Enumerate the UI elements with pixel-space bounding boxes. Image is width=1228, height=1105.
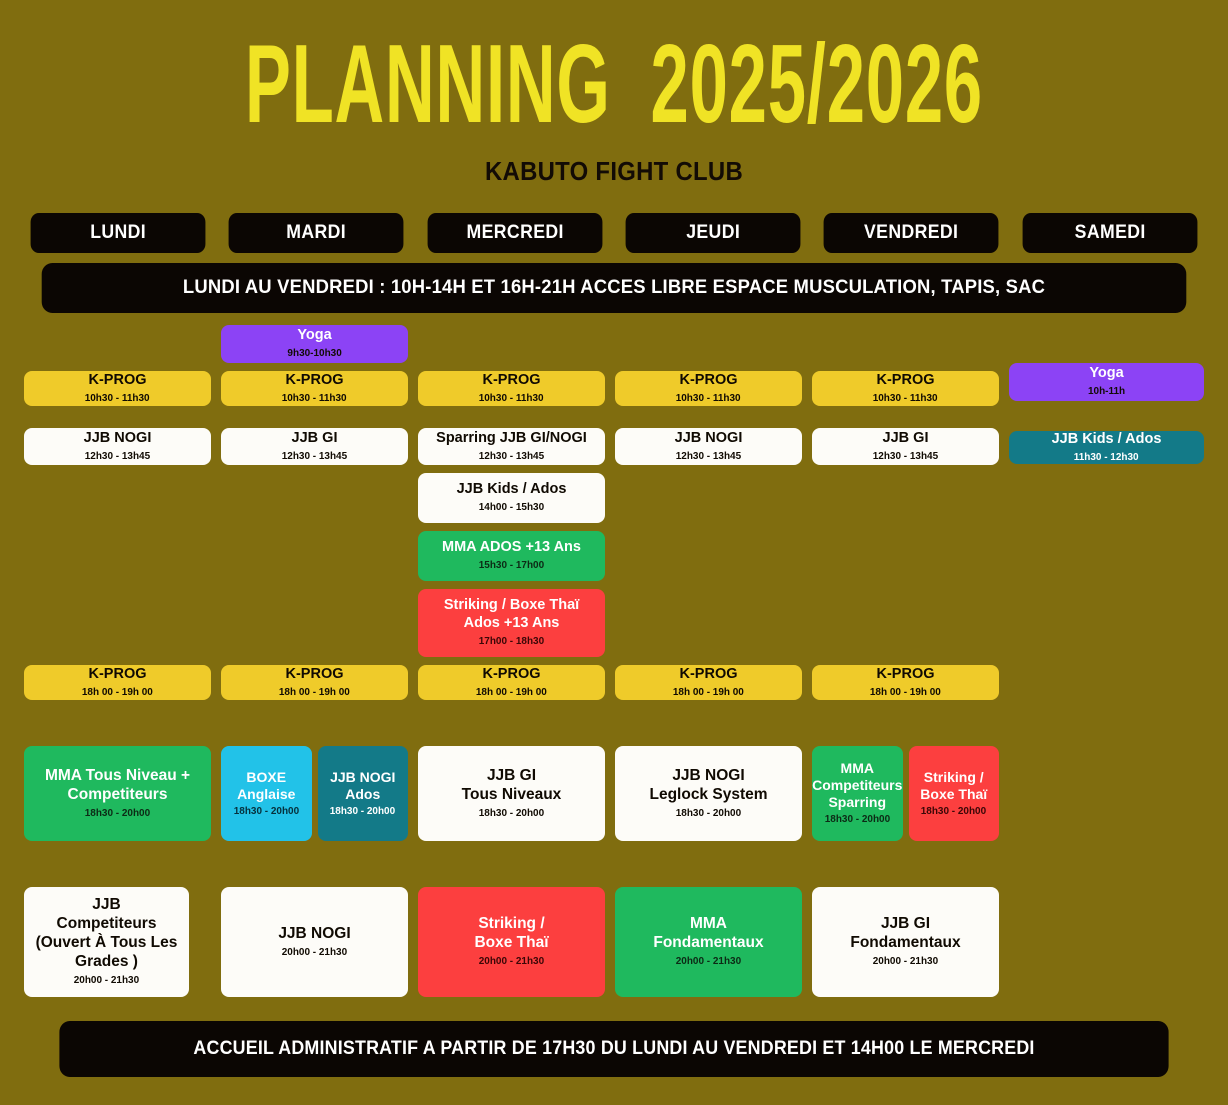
row-midday: JJB NOGI 12h30 - 13h45 JJB GI 12h30 - 13…	[24, 428, 999, 465]
class-time: 14h00 - 15h30	[479, 501, 544, 515]
admin-hours-banner: ACCUEIL ADMINISTRATIF A PARTIR DE 17H30 …	[59, 1021, 1168, 1077]
class-card-jjb-nogi-ados-mardi[interactable]: JJB NOGI Ados 18h30 - 20h00	[318, 746, 409, 841]
class-name: JJB NOGI	[278, 925, 350, 944]
class-name: K-PROG	[89, 372, 147, 390]
class-card-midday-vendredi[interactable]: JJB GI 12h30 - 13h45	[812, 428, 999, 465]
day-header-mardi[interactable]: MARDI	[229, 213, 404, 253]
class-time: 18h 00 - 19h 00	[673, 686, 744, 700]
samedi-column: Yoga 10h-11h JJB Kids / Ados 11h30 - 12h…	[1009, 313, 1204, 997]
class-card-jjb-nogi-leglock-jeudi[interactable]: JJB NOGI Leglock System 18h30 - 20h00	[615, 746, 802, 841]
class-card-kprog-evening-lundi[interactable]: K-PROG 18h 00 - 19h 00	[24, 665, 211, 700]
class-name: JJB NOGI Ados	[330, 769, 395, 803]
class-time: 12h30 - 13h45	[676, 450, 741, 464]
class-card-mma-fondamentaux-jeudi[interactable]: MMA Fondamentaux 20h00 - 21h30	[615, 887, 802, 997]
club-name: KABUTO FIGHT CLUB	[49, 156, 1179, 187]
class-time: 20h00 - 21h30	[282, 946, 347, 960]
class-name: K-PROG	[89, 666, 147, 684]
day-header-mercredi[interactable]: MERCREDI	[427, 213, 602, 253]
day-header-lundi[interactable]: LUNDI	[31, 213, 206, 253]
class-name: Striking / Boxe Thaï	[920, 769, 987, 803]
class-time: 20h00 - 21h30	[74, 974, 139, 988]
class-card-kprog-evening-mercredi[interactable]: K-PROG 18h 00 - 19h 00	[418, 665, 605, 700]
class-name: Striking / Boxe Thaï	[474, 915, 548, 953]
class-name: JJB NOGI	[675, 430, 743, 448]
class-name: K-PROG	[483, 372, 541, 390]
class-time: 9h30-10h30	[287, 347, 341, 361]
class-name: JJB GI	[883, 430, 929, 448]
class-name: Yoga	[297, 327, 331, 345]
class-time: 10h30 - 11h30	[873, 392, 938, 406]
class-time: 12h30 - 13h45	[873, 450, 938, 464]
class-time: 12h30 - 13h45	[85, 450, 150, 464]
class-card-kprog-evening-vendredi[interactable]: K-PROG 18h 00 - 19h 00	[812, 665, 999, 700]
class-card-midday-mardi[interactable]: JJB GI 12h30 - 13h45	[221, 428, 408, 465]
class-name: Yoga	[1089, 365, 1123, 383]
class-time: 20h00 - 21h30	[873, 955, 938, 969]
day-header-jeudi[interactable]: JEUDI	[626, 213, 801, 253]
class-name: MMA ADOS +13 Ans	[442, 539, 581, 557]
day-header-samedi[interactable]: SAMEDI	[1022, 213, 1197, 253]
class-time: 10h-11h	[1088, 385, 1125, 399]
class-time: 11h30 - 12h30	[1074, 451, 1139, 464]
row-evening: MMA Tous Niveau + Competiteurs 18h30 - 2…	[24, 746, 999, 841]
class-name: JJB GI Fondamentaux	[850, 915, 960, 953]
class-name: K-PROG	[680, 666, 738, 684]
class-name: JJB GI Tous Niveaux	[462, 767, 562, 805]
schedule-sheet: LUNDI MARDI MERCREDI JEUDI VENDREDI SAME…	[0, 213, 1228, 1077]
class-card-jjb-gi-tous-niveaux-mercredi[interactable]: JJB GI Tous Niveaux 18h30 - 20h00	[418, 746, 605, 841]
class-card-striking-boxe-thai-mercredi[interactable]: Striking / Boxe Thaï 20h00 - 21h30	[418, 887, 605, 997]
class-card-kprog-evening-jeudi[interactable]: K-PROG 18h 00 - 19h 00	[615, 665, 802, 700]
row-kprog-evening: K-PROG 18h 00 - 19h 00 K-PROG 18h 00 - 1…	[24, 665, 999, 700]
class-time: 10h30 - 11h30	[676, 392, 741, 406]
day-header-row: LUNDI MARDI MERCREDI JEUDI VENDREDI SAME…	[24, 213, 1204, 253]
class-card-kprog-morning-mardi[interactable]: K-PROG 10h30 - 11h30	[221, 371, 408, 406]
class-name: K-PROG	[680, 372, 738, 390]
class-time: 18h 00 - 19h 00	[82, 686, 153, 700]
class-card-jjb-gi-fondamentaux-vendredi[interactable]: JJB GI Fondamentaux 20h00 - 21h30	[812, 887, 999, 997]
class-name: JJB GI	[292, 430, 338, 448]
row-mercredi-afternoon: JJB Kids / Ados 14h00 - 15h30 MMA ADOS +…	[24, 473, 999, 657]
class-time: 10h30 - 11h30	[479, 392, 544, 406]
class-name: K-PROG	[483, 666, 541, 684]
class-name: K-PROG	[286, 666, 344, 684]
class-name: BOXE Anglaise	[237, 769, 295, 803]
class-card-mma-tous-niveau-lundi[interactable]: MMA Tous Niveau + Competiteurs 18h30 - 2…	[24, 746, 211, 841]
class-card-kprog-morning-jeudi[interactable]: K-PROG 10h30 - 11h30	[615, 371, 802, 406]
class-time: 18h30 - 20h00	[234, 805, 299, 819]
class-name: JJB Competiteurs (Ouvert À Tous Les Grad…	[36, 896, 178, 972]
class-time: 18h30 - 20h00	[479, 807, 544, 821]
row-late: JJB Competiteurs (Ouvert À Tous Les Grad…	[24, 887, 999, 997]
class-card-jjb-kids-mercredi[interactable]: JJB Kids / Ados 14h00 - 15h30	[418, 473, 605, 523]
class-name: K-PROG	[877, 666, 935, 684]
class-card-mma-ados-mercredi[interactable]: MMA ADOS +13 Ans 15h30 - 17h00	[418, 531, 605, 581]
class-card-midday-mercredi[interactable]: Sparring JJB GI/NOGI 12h30 - 13h45	[418, 428, 605, 465]
class-card-kprog-evening-mardi[interactable]: K-PROG 18h 00 - 19h 00	[221, 665, 408, 700]
class-time: 10h30 - 11h30	[85, 392, 150, 406]
class-time: 18h30 - 20h00	[825, 813, 890, 827]
class-time: 20h00 - 21h30	[676, 955, 741, 969]
class-name: MMA Competiteurs Sparring	[812, 760, 902, 811]
class-time: 15h30 - 17h00	[479, 559, 544, 573]
class-name: JJB Kids / Ados	[1052, 431, 1162, 449]
class-name: Striking / Boxe Thaï Ados +13 Ans	[444, 597, 579, 632]
class-card-jjb-competiteurs-lundi[interactable]: JJB Competiteurs (Ouvert À Tous Les Grad…	[24, 887, 189, 997]
class-name: JJB NOGI Leglock System	[649, 767, 767, 805]
class-name: K-PROG	[286, 372, 344, 390]
class-time: 20h00 - 21h30	[479, 955, 544, 969]
opening-hours-banner: LUNDI AU VENDREDI : 10H-14H ET 16H-21H A…	[42, 263, 1187, 313]
class-name: JJB Kids / Ados	[457, 481, 567, 499]
class-card-jjb-nogi-mardi[interactable]: JJB NOGI 20h00 - 21h30	[221, 887, 408, 997]
page-title: PLANNING 2025/2026	[123, 0, 1105, 140]
class-time: 18h 00 - 19h 00	[476, 686, 547, 700]
class-card-yoga-mardi[interactable]: Yoga 9h30-10h30	[221, 325, 408, 363]
class-time: 18h 00 - 19h 00	[870, 686, 941, 700]
class-name: MMA Tous Niveau + Competiteurs	[45, 767, 190, 805]
class-time: 12h30 - 13h45	[282, 450, 347, 464]
class-card-boxe-anglaise-mardi[interactable]: BOXE Anglaise 18h30 - 20h00	[221, 746, 312, 841]
class-time: 17h00 - 18h30	[479, 635, 544, 649]
class-name: K-PROG	[877, 372, 935, 390]
class-time: 18h 00 - 19h 00	[279, 686, 350, 700]
class-card-yoga-samedi[interactable]: Yoga 10h-11h	[1009, 363, 1204, 401]
class-name: Sparring JJB GI/NOGI	[436, 430, 587, 448]
class-card-kprog-morning-vendredi[interactable]: K-PROG 10h30 - 11h30	[812, 371, 999, 406]
class-time: 10h30 - 11h30	[282, 392, 347, 406]
class-card-jjb-kids-ados-samedi[interactable]: JJB Kids / Ados 11h30 - 12h30	[1009, 431, 1204, 464]
row-kprog-morning: K-PROG 10h30 - 11h30 K-PROG 10h30 - 11h3…	[24, 371, 999, 406]
class-card-midday-lundi[interactable]: JJB NOGI 12h30 - 13h45	[24, 428, 211, 465]
class-card-striking-boxe-thai-vendredi[interactable]: Striking / Boxe Thaï 18h30 - 20h00	[909, 746, 1000, 841]
class-name: MMA Fondamentaux	[653, 915, 763, 953]
class-time: 12h30 - 13h45	[479, 450, 544, 464]
class-card-mma-competiteurs-sparring-vendredi[interactable]: MMA Competiteurs Sparring 18h30 - 20h00	[812, 746, 903, 841]
class-time: 18h30 - 20h00	[85, 807, 150, 821]
day-header-vendredi[interactable]: VENDREDI	[824, 213, 999, 253]
class-time: 18h30 - 20h00	[330, 805, 395, 819]
class-card-midday-jeudi[interactable]: JJB NOGI 12h30 - 13h45	[615, 428, 802, 465]
class-time: 18h30 - 20h00	[921, 805, 986, 819]
class-card-kprog-morning-mercredi[interactable]: K-PROG 10h30 - 11h30	[418, 371, 605, 406]
class-time: 18h30 - 20h00	[676, 807, 741, 821]
row-yoga-morning: Yoga 9h30-10h30	[24, 325, 999, 363]
class-card-kprog-morning-lundi[interactable]: K-PROG 10h30 - 11h30	[24, 371, 211, 406]
class-card-striking-ados-mercredi[interactable]: Striking / Boxe Thaï Ados +13 Ans 17h00 …	[418, 589, 605, 657]
class-name: JJB NOGI	[84, 430, 152, 448]
